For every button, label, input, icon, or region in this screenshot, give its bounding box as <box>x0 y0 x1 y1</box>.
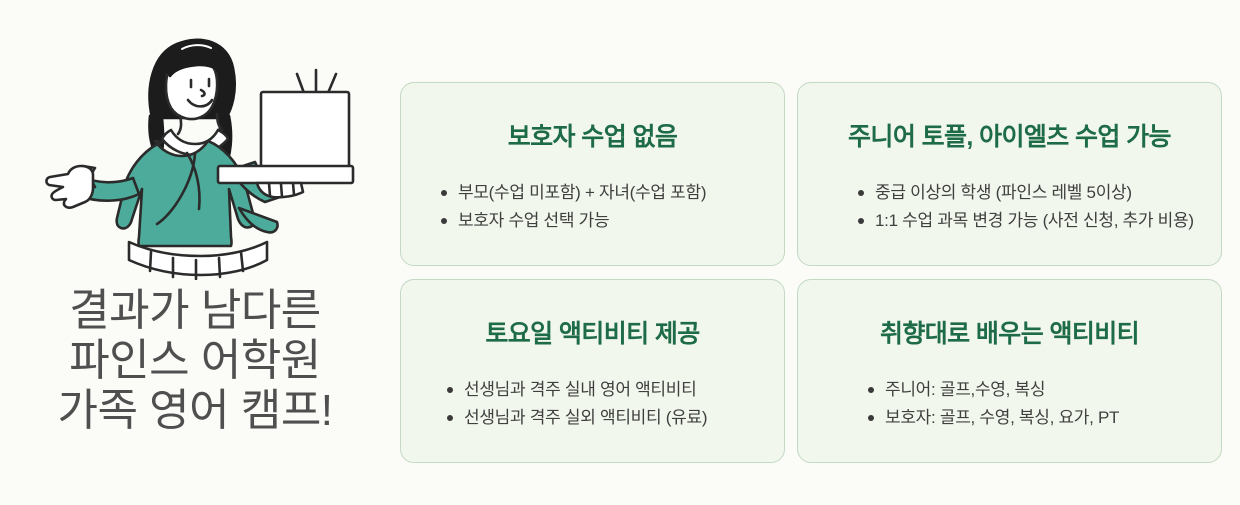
sparkle-line-right <box>328 74 336 93</box>
sparkle-line-left <box>297 74 304 93</box>
card-bullet-list: 선생님과 격주 실내 영어 액티비티 선생님과 격주 실외 액티비티 (유료) <box>417 376 768 431</box>
feature-card-no-guardian-class: 보호자 수업 없음 부모(수업 미포함) + 자녀(수업 포함) 보호자 수업 … <box>400 82 785 266</box>
feature-card-preference-activity: 취향대로 배우는 액티비티 주니어: 골프,수영, 복싱 보호자: 골프, 수영… <box>797 279 1222 463</box>
list-item: 선생님과 격주 실외 액티비티 (유료) <box>445 404 768 432</box>
list-item: 주니어: 골프,수영, 복싱 <box>866 376 1205 404</box>
card-title: 주니어 토플, 아이엘츠 수업 가능 <box>814 117 1205 153</box>
laptop-base <box>218 166 353 183</box>
page-title: 결과가 남다른 파인스 어학원 가족 영어 캠프! <box>57 286 332 436</box>
card-bullet-list: 주니어: 골프,수영, 복싱 보호자: 골프, 수영, 복싱, 요가, PT <box>814 376 1205 431</box>
headline-line-2: 파인스 어학원 <box>57 336 332 386</box>
feature-card-grid: 보호자 수업 없음 부모(수업 미포함) + 자녀(수업 포함) 보호자 수업 … <box>400 82 1222 463</box>
woman-with-laptop-illustration <box>25 18 365 280</box>
list-item: 선생님과 격주 실내 영어 액티비티 <box>445 376 768 404</box>
list-item: 보호자 수업 선택 가능 <box>439 207 768 235</box>
list-item: 보호자: 골프, 수영, 복싱, 요가, PT <box>866 404 1205 432</box>
card-bullet-list: 부모(수업 미포함) + 자녀(수업 포함) 보호자 수업 선택 가능 <box>417 179 768 234</box>
card-title: 토요일 액티비티 제공 <box>417 314 768 350</box>
card-title: 취향대로 배우는 액티비티 <box>814 314 1205 350</box>
list-item: 부모(수업 미포함) + 자녀(수업 포함) <box>439 179 768 207</box>
card-bullet-list: 중급 이상의 학생 (파인스 레벨 5이상) 1:1 수업 과목 변경 가능 (… <box>814 179 1205 234</box>
card-title: 보호자 수업 없음 <box>417 117 768 153</box>
feature-card-saturday-activity: 토요일 액티비티 제공 선생님과 격주 실내 영어 액티비티 선생님과 격주 실… <box>400 279 785 463</box>
promo-page: 결과가 남다른 파인스 어학원 가족 영어 캠프! 보호자 수업 없음 부모(수… <box>0 0 1240 505</box>
feature-card-junior-toefl-ielts: 주니어 토플, 아이엘츠 수업 가능 중급 이상의 학생 (파인스 레벨 5이상… <box>797 82 1222 266</box>
headline-line-3: 가족 영어 캠프! <box>57 386 332 436</box>
list-item: 1:1 수업 과목 변경 가능 (사전 신청, 추가 비용) <box>856 207 1205 235</box>
laptop-screen <box>261 92 349 168</box>
hero-panel: 결과가 남다른 파인스 어학원 가족 영어 캠프! <box>0 0 390 505</box>
headline-line-1: 결과가 남다른 <box>57 286 332 336</box>
list-item: 중급 이상의 학생 (파인스 레벨 5이상) <box>856 179 1205 207</box>
pointing-hand <box>46 166 93 208</box>
